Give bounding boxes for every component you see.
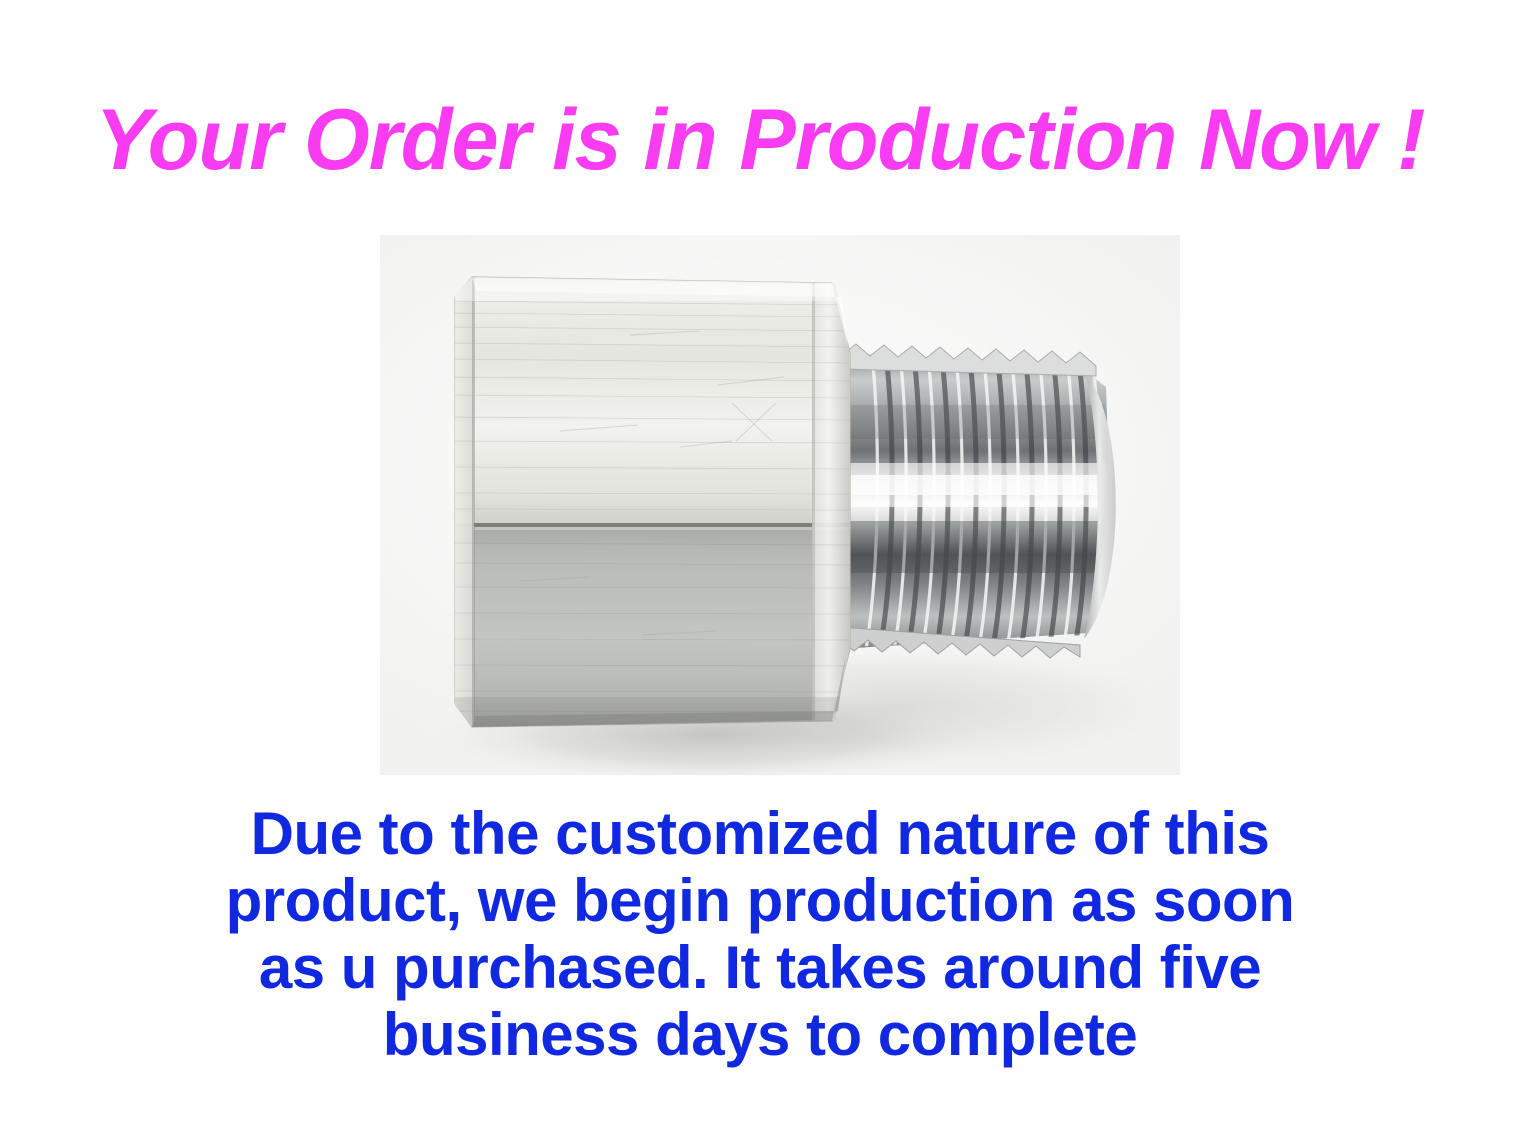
notice-line-3: as u purchased. It takes around five <box>0 934 1520 1001</box>
threaded-shank <box>835 344 1125 658</box>
notice-line-1: Due to the customized nature of this <box>0 800 1520 867</box>
notice-line-2: product, we begin production as soon <box>0 867 1520 934</box>
promo-banner: Your Order is in Production Now ! <box>0 0 1520 1140</box>
product-photo <box>380 235 1180 775</box>
page-title: Your Order is in Production Now ! <box>11 92 1508 188</box>
hex-body <box>440 265 870 745</box>
notice-line-4: business days to complete <box>0 1001 1520 1068</box>
production-notice: Due to the customized nature of this pro… <box>0 800 1520 1068</box>
hex-adapter-fitting-illustration <box>380 235 1180 775</box>
